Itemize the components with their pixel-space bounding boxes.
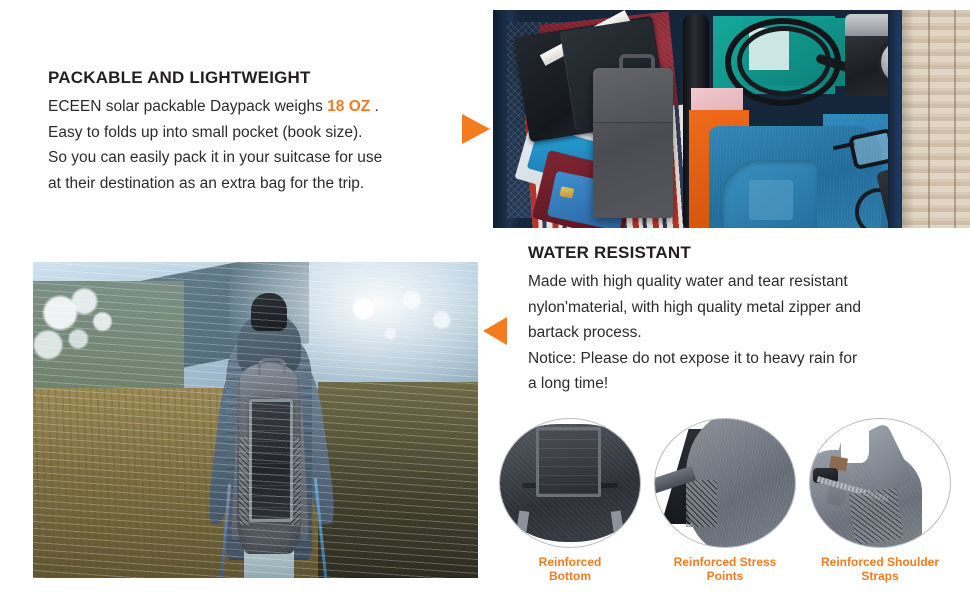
detail-caption-shoulder-straps: Reinforced Shoulder Straps <box>805 555 955 583</box>
packable-line-2: Easy to folds up into small pocket (book… <box>48 120 468 146</box>
detail-image-stress-points <box>654 418 796 548</box>
strap-mesh-panel <box>849 488 903 545</box>
packable-line-4: at their destination as an extra bag for… <box>48 171 468 197</box>
detail-reinforced-bottom: Reinforced Bottom <box>495 418 645 583</box>
water-line-4: Notice: Please do not expose it to heavy… <box>528 346 958 372</box>
detail-reinforced-shoulder-straps: Reinforced Shoulder Straps <box>805 418 955 583</box>
detail-caption-stress-points: Reinforced Stress Points <box>650 555 800 583</box>
packable-line-1-text: ECEEN solar packable Daypack weighs <box>48 98 327 115</box>
water-resistant-text-block: WATER RESISTANT Made with high quality w… <box>528 243 958 397</box>
product-feature-banner: PACKABLE AND LIGHTWEIGHT ECEEN solar pac… <box>0 0 970 600</box>
strap-gap <box>841 424 869 462</box>
water-line-2: nylon'material, with high quality metal … <box>528 295 958 321</box>
wood-floor <box>902 10 970 228</box>
arrow-right-icon <box>462 114 490 144</box>
caption-line-2: Points <box>650 569 800 583</box>
detail-reinforced-stress-points: Reinforced Stress Points <box>650 418 800 583</box>
packable-line-1-suffix: . <box>370 98 379 115</box>
caption-line-1: Reinforced <box>495 555 645 569</box>
water-resistant-heading: WATER RESISTANT <box>528 243 958 263</box>
caption-line-2: Straps <box>805 569 955 583</box>
rain-streaks <box>33 262 478 578</box>
packable-text-block: PACKABLE AND LIGHTWEIGHT ECEEN solar pac… <box>48 68 468 196</box>
caption-line-1: Reinforced Shoulder <box>805 555 955 569</box>
suitcase-flatlay-photo <box>493 10 970 228</box>
detail-image-reinforced-bottom <box>499 418 641 548</box>
daypack-flap <box>593 68 673 123</box>
stress-point-mesh <box>686 480 717 526</box>
arrow-left-icon <box>483 317 507 345</box>
water-line-1: Made with high quality water and tear re… <box>528 269 958 295</box>
weight-value: 18 OZ <box>327 98 370 115</box>
detail-image-shoulder-straps <box>809 418 951 548</box>
packable-line-1: ECEEN solar packable Daypack weighs 18 O… <box>48 94 468 120</box>
detail-caption-reinforced-bottom: Reinforced Bottom <box>495 555 645 583</box>
pack-solar-panel <box>536 427 601 497</box>
hiker-in-rain-photo <box>33 262 478 578</box>
jeans-pocket <box>749 180 793 220</box>
packable-heading: PACKABLE AND LIGHTWEIGHT <box>48 68 468 88</box>
packable-line-3: So you can easily pack it in your suitca… <box>48 145 468 171</box>
caption-line-2: Bottom <box>495 569 645 583</box>
water-line-3: bartack process. <box>528 320 958 346</box>
water-line-5: a long time! <box>528 371 958 397</box>
caption-line-1: Reinforced Stress <box>650 555 800 569</box>
